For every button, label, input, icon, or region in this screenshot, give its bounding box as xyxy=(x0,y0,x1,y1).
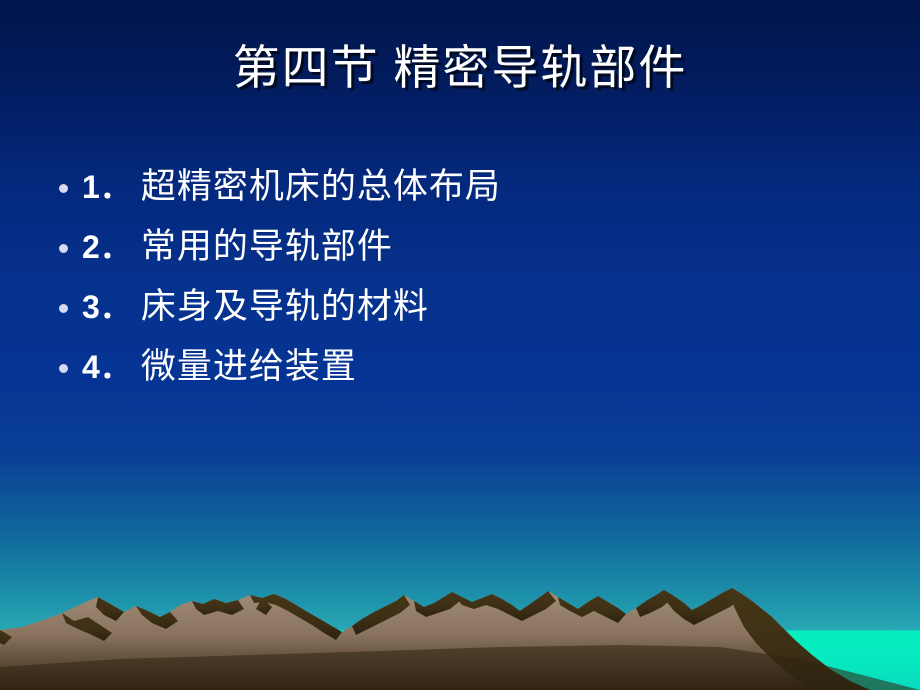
page-title: 第四节 精密导轨部件 xyxy=(233,42,688,96)
mountain-shadow-faces xyxy=(0,588,870,690)
content-placeholder: 1． 超精密机床的总体布局 2． 常用的导轨部件 3． 床身及导轨的材料 4． … xyxy=(46,158,846,398)
list-item-label: 床身及导轨的材料 xyxy=(132,278,429,329)
bullet-dot-icon xyxy=(59,364,68,373)
bullet-marker xyxy=(46,304,76,313)
list-item-index: 3． xyxy=(76,282,132,328)
list-item-label: 常用的导轨部件 xyxy=(132,218,393,269)
mountain-base-shadow xyxy=(0,645,920,690)
list-item-label: 微量进给装置 xyxy=(132,338,357,389)
bullet-dot-icon xyxy=(59,244,68,253)
list-item-index: 1． xyxy=(76,162,132,208)
bullet-marker xyxy=(46,184,76,193)
bullet-dot-icon xyxy=(59,304,68,313)
bullet-marker xyxy=(46,364,76,373)
presentation-slide: 第四节 精密导轨部件 1． 超精密机床的总体布局 2． 常用的导轨部件 3． 床… xyxy=(0,0,920,690)
bullet-dot-icon xyxy=(59,184,68,193)
mountain-silhouette-svg xyxy=(0,585,920,690)
list-item[interactable]: 4． 微量进给装置 xyxy=(46,338,846,398)
title-placeholder: 第四节 精密导轨部件 xyxy=(0,42,920,96)
list-item[interactable]: 2． 常用的导轨部件 xyxy=(46,218,846,278)
list-item-index: 4． xyxy=(76,342,132,388)
bullet-marker xyxy=(46,244,76,253)
list-item[interactable]: 1． 超精密机床的总体布局 xyxy=(46,158,846,218)
mountain-scenery xyxy=(0,585,920,690)
list-item[interactable]: 3． 床身及导轨的材料 xyxy=(46,278,846,338)
list-item-index: 2． xyxy=(76,222,132,268)
mountain-lit-faces xyxy=(0,588,920,690)
list-item-label: 超精密机床的总体布局 xyxy=(132,158,501,209)
